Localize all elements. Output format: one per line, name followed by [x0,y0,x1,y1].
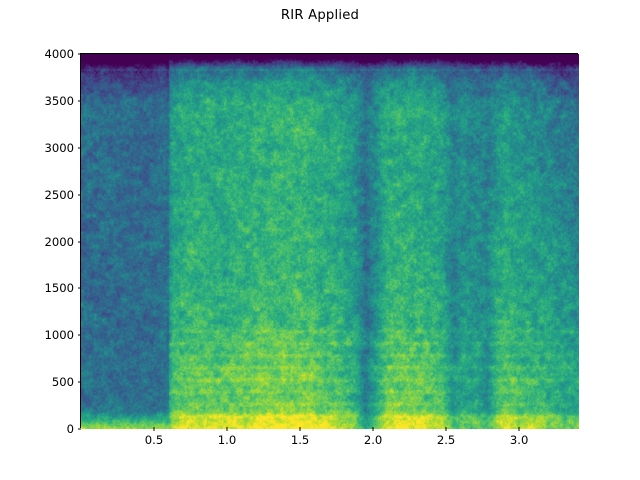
x-tick-label: 1.5 [291,427,309,447]
spectrogram-axes: 05001000150020002500300035004000 0.51.01… [80,53,578,428]
y-tick-label: 4000 [44,47,81,61]
spectrogram-image [81,54,579,429]
y-tick-label: 1000 [44,328,81,342]
page-title: RIR Applied [0,8,640,23]
x-tick-label: 3.0 [510,427,528,447]
y-tick-label: 2000 [44,235,81,249]
y-tick-label: 2500 [44,188,81,202]
y-tick-label: 3500 [44,94,81,108]
y-tick-label: 0 [67,422,81,436]
x-tick-label: 2.0 [364,427,382,447]
y-tick-label: 1500 [44,281,81,295]
x-tick-label: 0.5 [145,427,163,447]
matplotlib-figure: RIR Applied 0500100015002000250030003500… [0,0,640,480]
x-tick-label: 1.0 [218,427,236,447]
x-tick-label: 2.5 [437,427,455,447]
y-tick-label: 3000 [44,141,81,155]
y-tick-label: 500 [52,375,81,389]
